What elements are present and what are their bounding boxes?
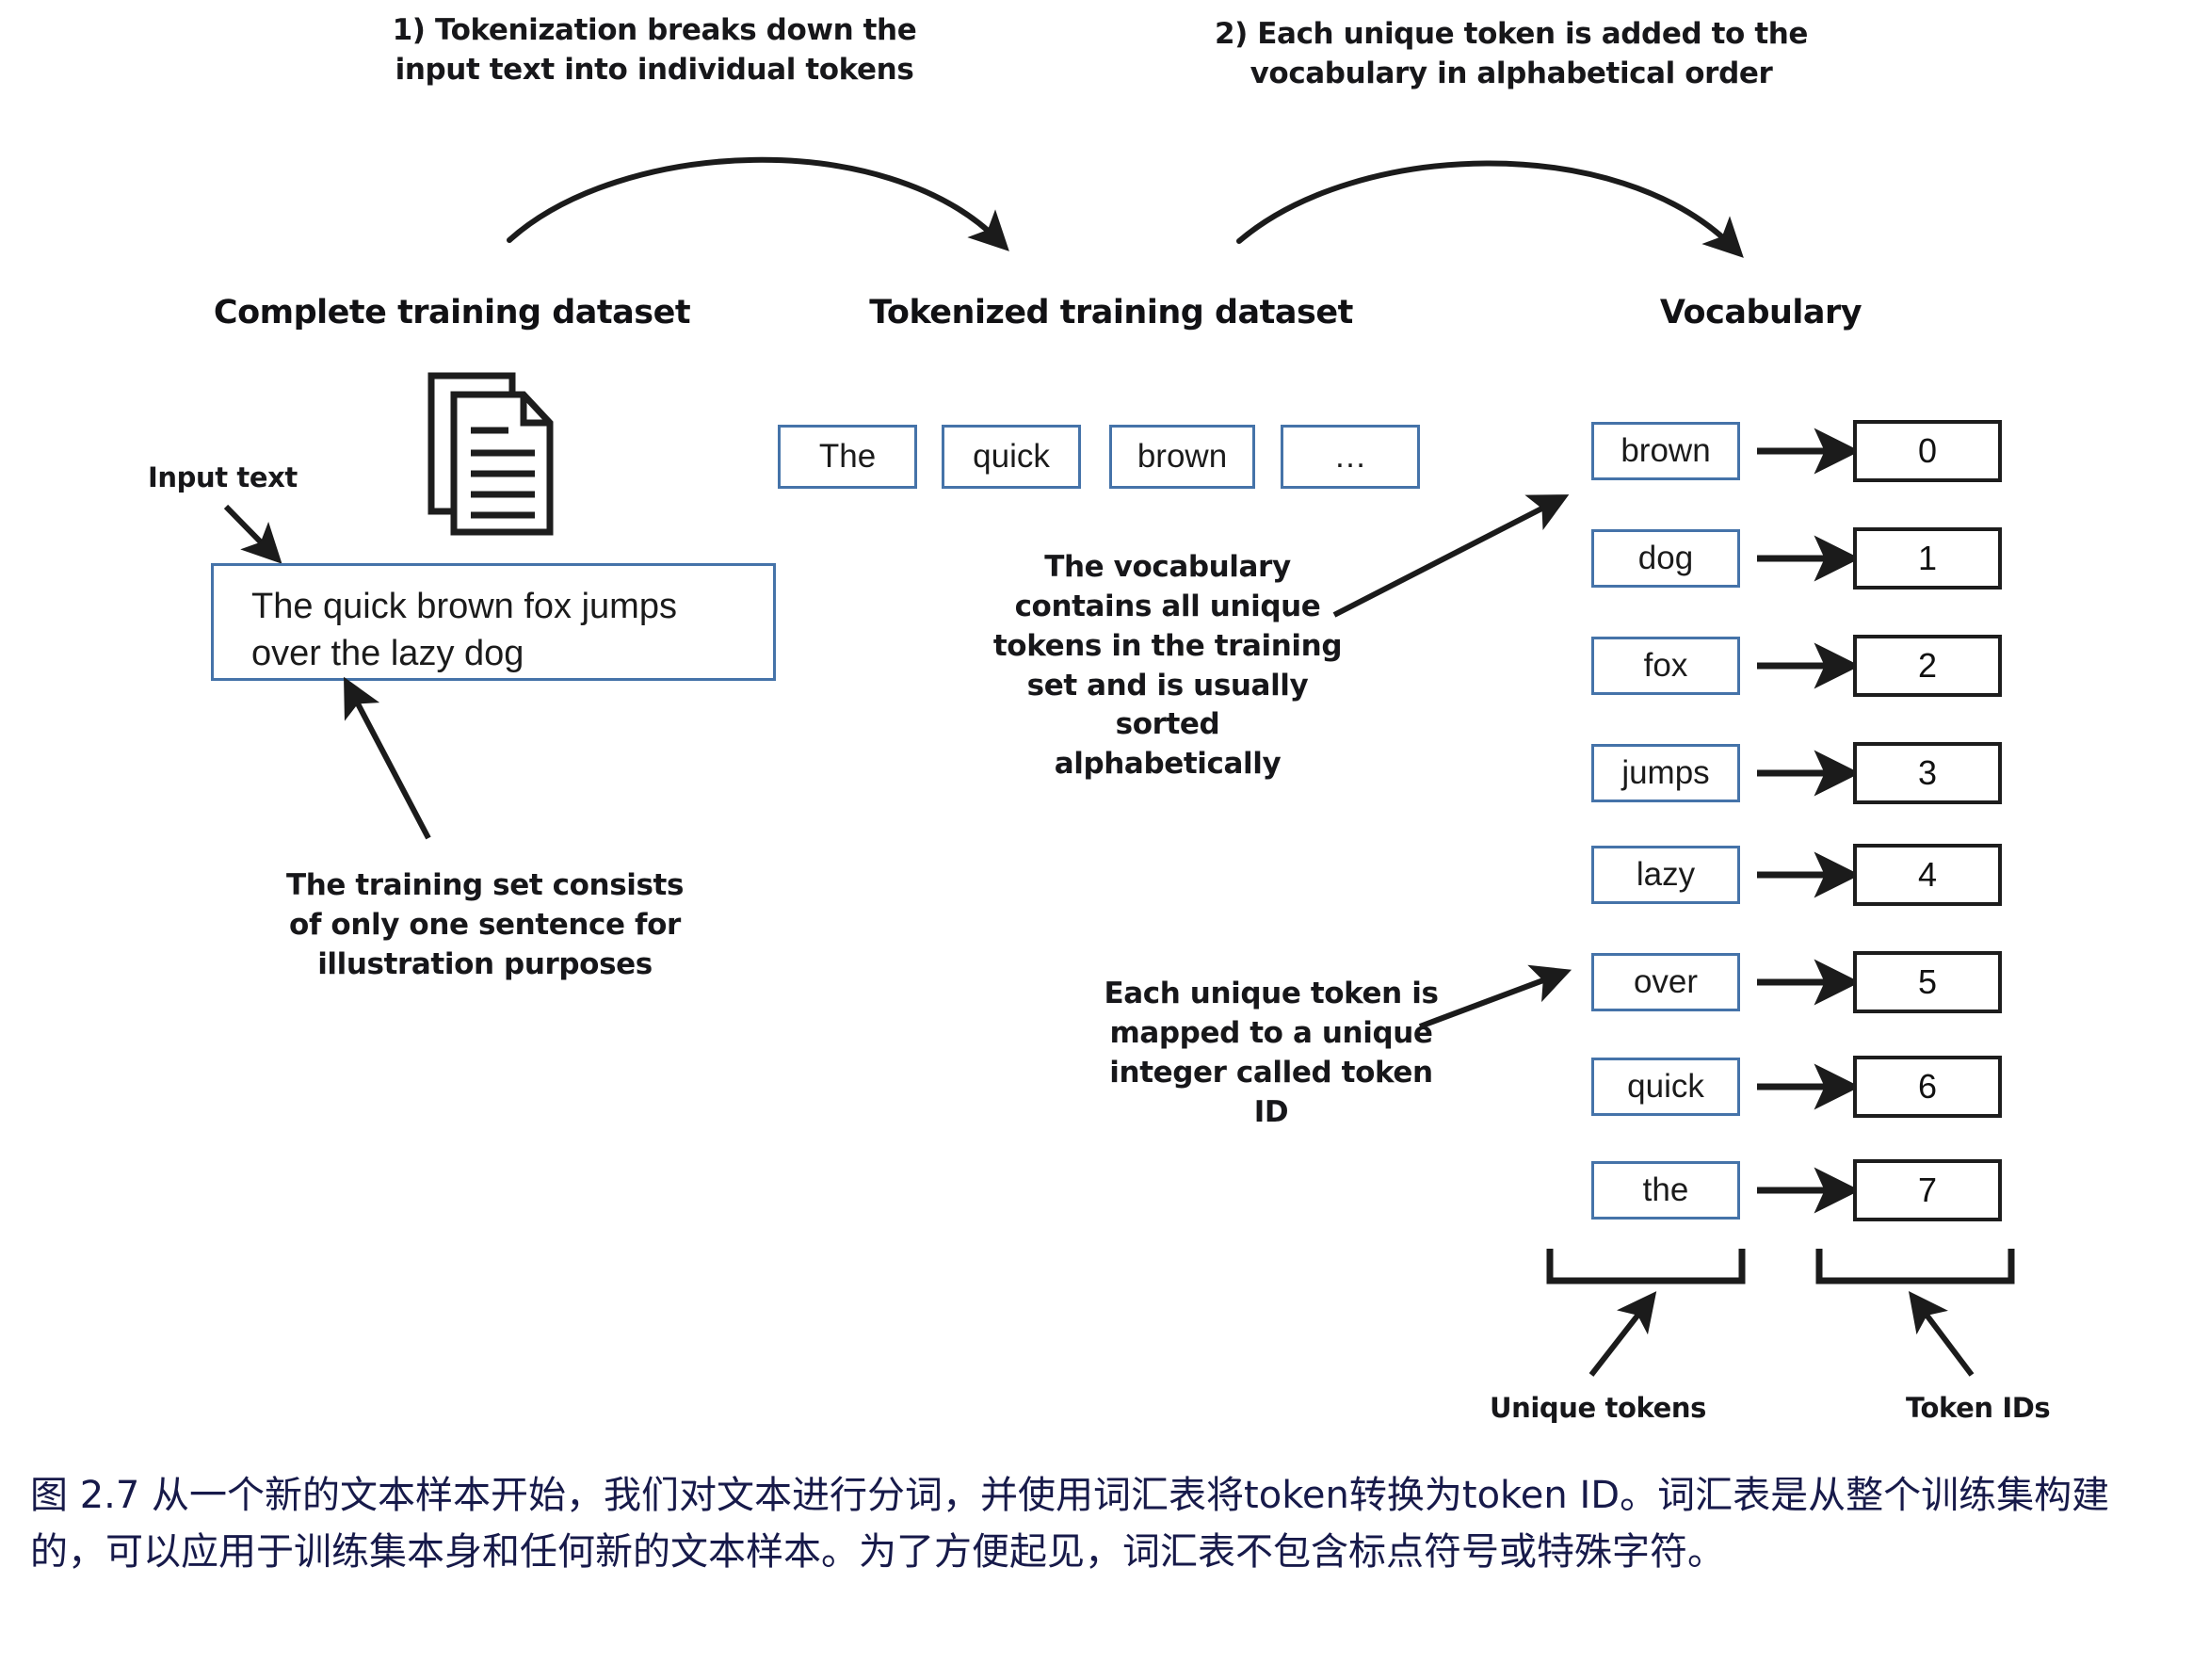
token-ids-label: Token IDs (1906, 1392, 2050, 1424)
figure-canvas: 1) Tokenization breaks down the input te… (0, 0, 2209, 1680)
token-ids-arrow (0, 0, 2209, 1680)
figure-caption: 图 2.7 从一个新的文本样本开始，我们对文本进行分词，并使用词汇表将token… (30, 1467, 2183, 1580)
